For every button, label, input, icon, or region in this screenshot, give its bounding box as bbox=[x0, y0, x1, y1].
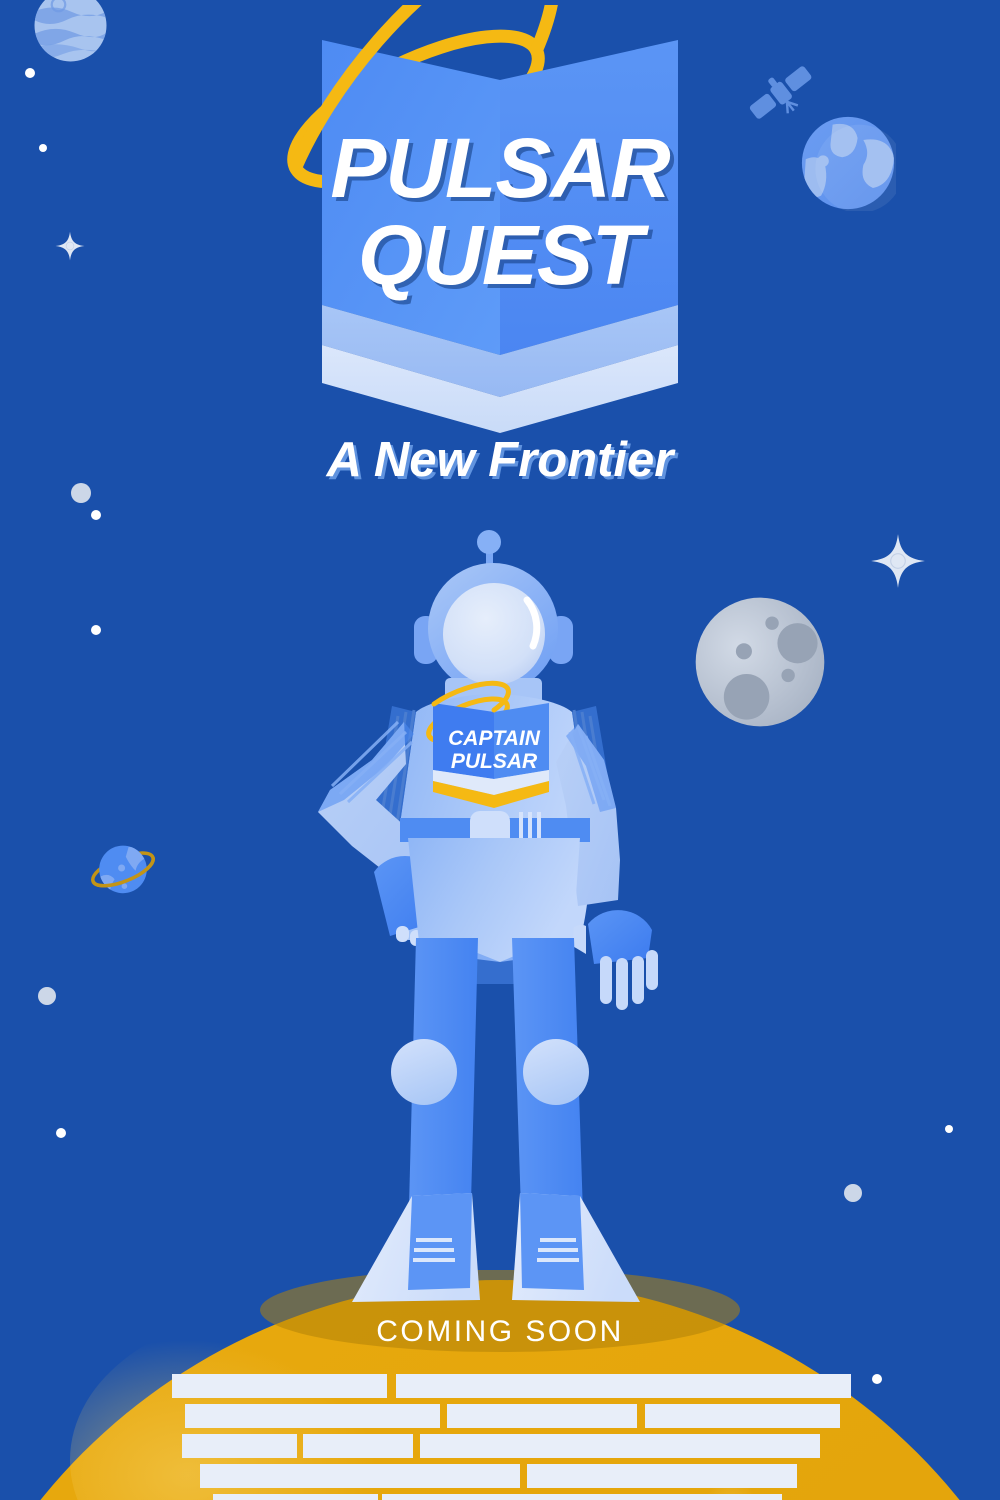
glove-right-palm bbox=[588, 910, 652, 964]
surface-skeleton-bar bbox=[447, 1404, 637, 1428]
astronaut-figure: CAPTAIN PULSAR bbox=[0, 0, 1000, 1500]
knee-pad-left bbox=[391, 1039, 457, 1105]
knee-pad-right bbox=[523, 1039, 589, 1105]
surface-skeleton-bar bbox=[382, 1494, 782, 1500]
surface-skeleton-bar bbox=[303, 1434, 413, 1458]
surface-skeleton-bar bbox=[396, 1374, 851, 1398]
surface-skeleton-bar bbox=[527, 1464, 797, 1488]
surface-skeleton-bar bbox=[182, 1434, 297, 1458]
poster-canvas: PULSAR QUEST A New Frontier bbox=[0, 0, 1000, 1500]
chest-badge-line2: PULSAR bbox=[451, 750, 538, 773]
coming-soon-label: COMING SOON bbox=[0, 1315, 1000, 1349]
surface-skeleton-bar bbox=[420, 1434, 820, 1458]
surface-skeleton-bar bbox=[213, 1494, 378, 1500]
chest-badge-line1: CAPTAIN bbox=[448, 727, 541, 750]
surface-skeleton-bar bbox=[200, 1464, 520, 1488]
astronaut-leg-left bbox=[352, 938, 480, 1302]
surface-skeleton-bar bbox=[172, 1374, 387, 1398]
surface-skeleton-bar bbox=[645, 1404, 840, 1428]
surface-skeleton-bar bbox=[185, 1404, 440, 1428]
